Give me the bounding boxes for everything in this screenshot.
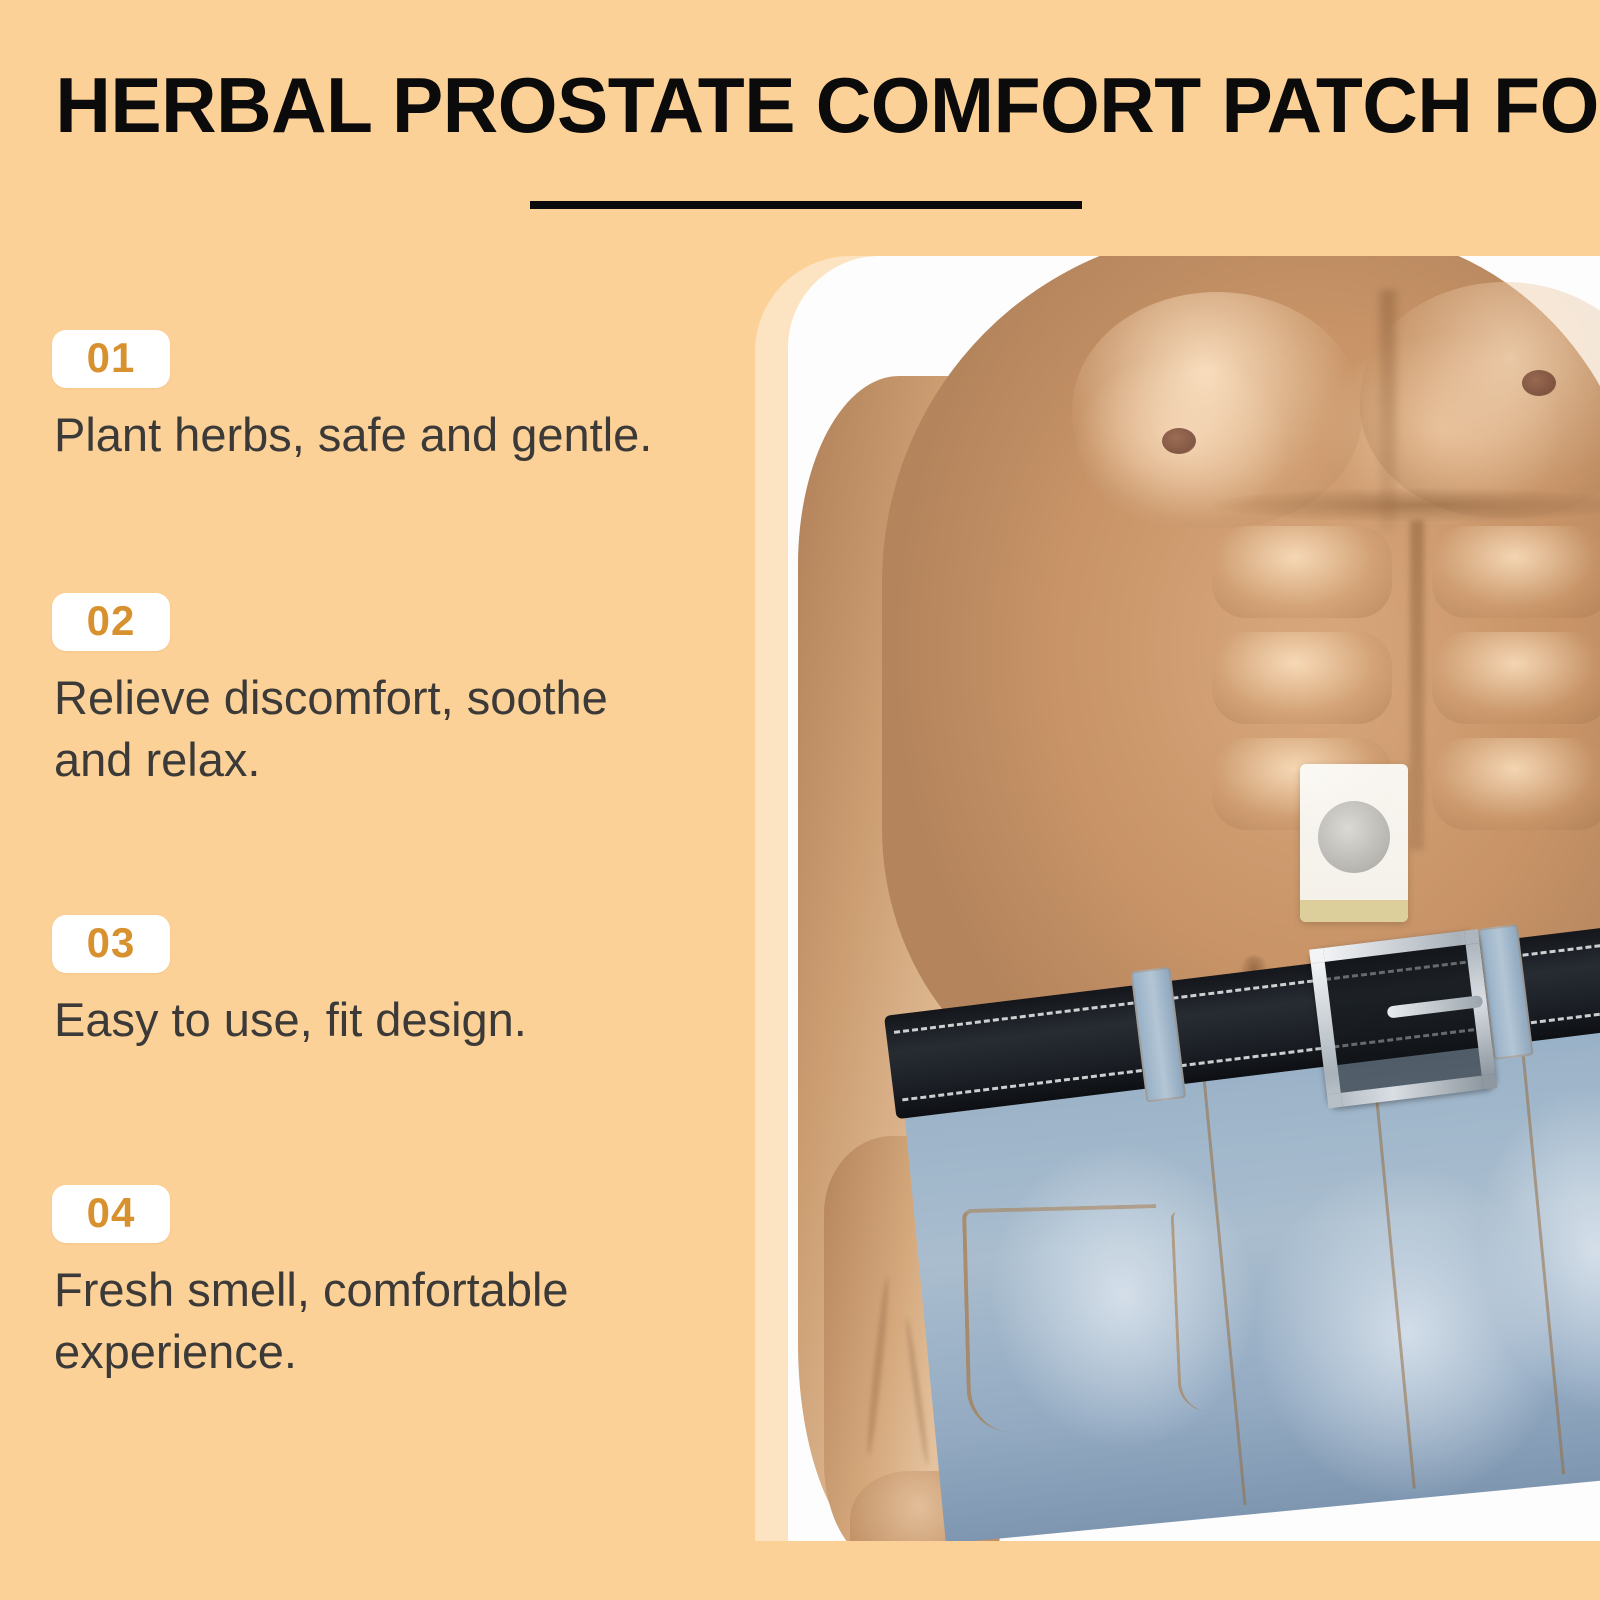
feature-item-04: 04 Fresh smell, comfortable experience. xyxy=(52,1185,712,1383)
belt-loop-1 xyxy=(1130,967,1186,1103)
photo-scene xyxy=(788,256,1600,1541)
linea-alba xyxy=(1410,520,1424,850)
herbal-patch-pad xyxy=(1318,801,1390,873)
jeans-pocket-right xyxy=(1171,1207,1303,1412)
title-underline-rule xyxy=(530,201,1082,209)
belt-buckle xyxy=(1309,929,1497,1109)
feature-item-01: 01 Plant herbs, safe and gentle. xyxy=(52,330,712,466)
buckle-prong xyxy=(1387,995,1484,1019)
jeans-pocket-left xyxy=(962,1204,1162,1433)
nipple-left xyxy=(1162,428,1196,454)
feature-number-badge-01: 01 xyxy=(52,330,170,388)
feature-text-03: Easy to use, fit design. xyxy=(54,989,694,1051)
feature-text-01: Plant herbs, safe and gentle. xyxy=(54,404,694,466)
ab-left-2 xyxy=(1212,632,1392,724)
ab-right-1 xyxy=(1432,526,1600,618)
feature-number-badge-02: 02 xyxy=(52,593,170,651)
ab-left-1 xyxy=(1212,526,1392,618)
product-feature-poster: HERBAL PROSTATE COMFORT PATCH FOR MEN 01… xyxy=(0,0,1600,1600)
feature-text-02: Relieve discomfort, soothe and relax. xyxy=(54,667,694,791)
feature-number-badge-04: 04 xyxy=(52,1185,170,1243)
nipple-right xyxy=(1522,370,1556,396)
ab-right-2 xyxy=(1432,632,1600,724)
feature-item-03: 03 Easy to use, fit design. xyxy=(52,915,712,1051)
herbal-patch xyxy=(1300,764,1408,922)
feature-number-badge-03: 03 xyxy=(52,915,170,973)
herbal-patch-backing-strip xyxy=(1300,900,1408,922)
feature-item-02: 02 Relieve discomfort, soothe and relax. xyxy=(52,593,712,791)
feature-text-04: Fresh smell, comfortable experience. xyxy=(54,1259,694,1383)
product-photo xyxy=(788,256,1600,1541)
ab-right-3 xyxy=(1432,738,1600,830)
page-title: HERBAL PROSTATE COMFORT PATCH FOR MEN xyxy=(12,62,1588,148)
title-block: HERBAL PROSTATE COMFORT PATCH FOR MEN xyxy=(0,62,1600,148)
pectoral-right xyxy=(1360,282,1600,518)
